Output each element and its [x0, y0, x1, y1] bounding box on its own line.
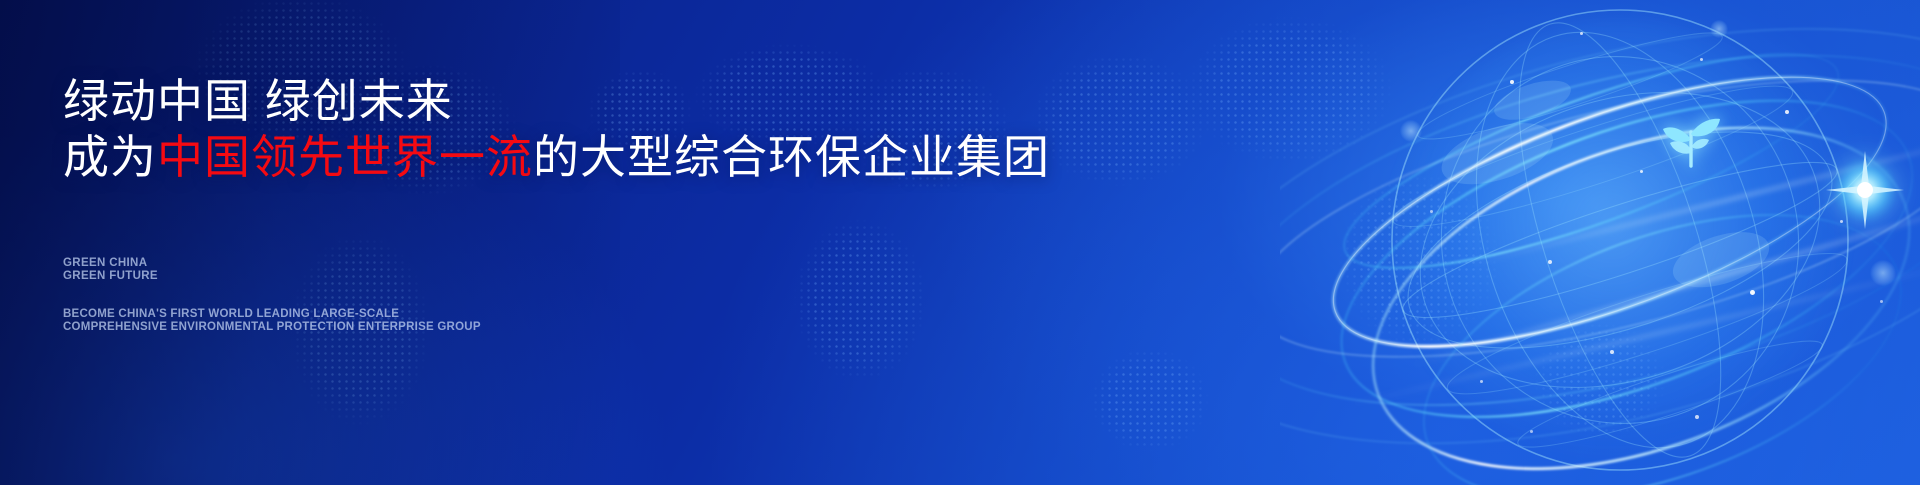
subtitle-en-line-2: GREEN FUTURE	[63, 270, 158, 283]
headline-suffix: 的大型综合环保企业集团	[533, 131, 1050, 183]
tagline-english: BECOME CHINA'S FIRST WORLD LEADING LARGE…	[63, 308, 481, 334]
headline-line-1: 绿动中国 绿创未来	[63, 78, 453, 124]
headline-prefix: 成为	[63, 131, 157, 183]
tagline-en-line-2: COMPREHENSIVE ENVIRONMENTAL PROTECTION E…	[63, 321, 481, 334]
headline-highlight: 中国领先世界一流	[157, 131, 533, 183]
subtitle-en-line-1: GREEN CHINA	[63, 257, 158, 270]
hero-banner: 绿动中国 绿创未来 成为中国领先世界一流的大型综合环保企业集团 GREEN CH…	[0, 0, 1920, 485]
banner-copy: 绿动中国 绿创未来 成为中国领先世界一流的大型综合环保企业集团 GREEN CH…	[60, 0, 1060, 485]
headline-line-2: 成为中国领先世界一流的大型综合环保企业集团	[63, 134, 1050, 180]
subtitle-english: GREEN CHINA GREEN FUTURE	[63, 257, 158, 283]
tagline-en-line-1: BECOME CHINA'S FIRST WORLD LEADING LARGE…	[63, 308, 481, 321]
